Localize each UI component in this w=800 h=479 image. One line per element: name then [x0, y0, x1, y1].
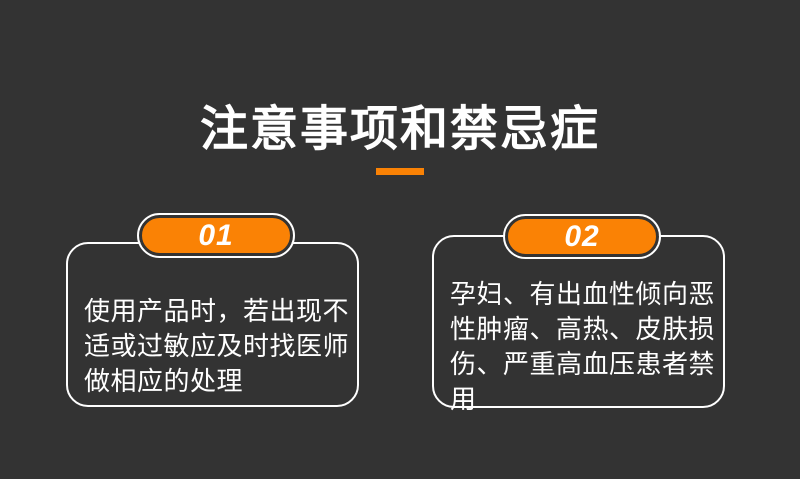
note-card-02-body: 孕妇、有出血性倾向恶性肿瘤、高热、皮肤损伤、严重高血压患者禁用 — [450, 277, 718, 417]
note-card-01-body: 使用产品时，若出现不适或过敏应及时找医师做相应的处理 — [84, 294, 352, 399]
slide-root: 注意事项和禁忌症 使用产品时，若出现不适或过敏应及时找医师做相应的处理 01 孕… — [0, 0, 800, 479]
page-title: 注意事项和禁忌症 — [0, 100, 800, 160]
note-card-02-number-badge: 02 — [505, 216, 659, 257]
note-card-02: 孕妇、有出血性倾向恶性肿瘤、高热、皮肤损伤、严重高血压患者禁用 — [432, 235, 725, 408]
title-divider-rule — [376, 168, 424, 175]
note-card-01-number-badge: 01 — [139, 215, 293, 256]
note-card-01: 使用产品时，若出现不适或过敏应及时找医师做相应的处理 — [66, 242, 359, 407]
